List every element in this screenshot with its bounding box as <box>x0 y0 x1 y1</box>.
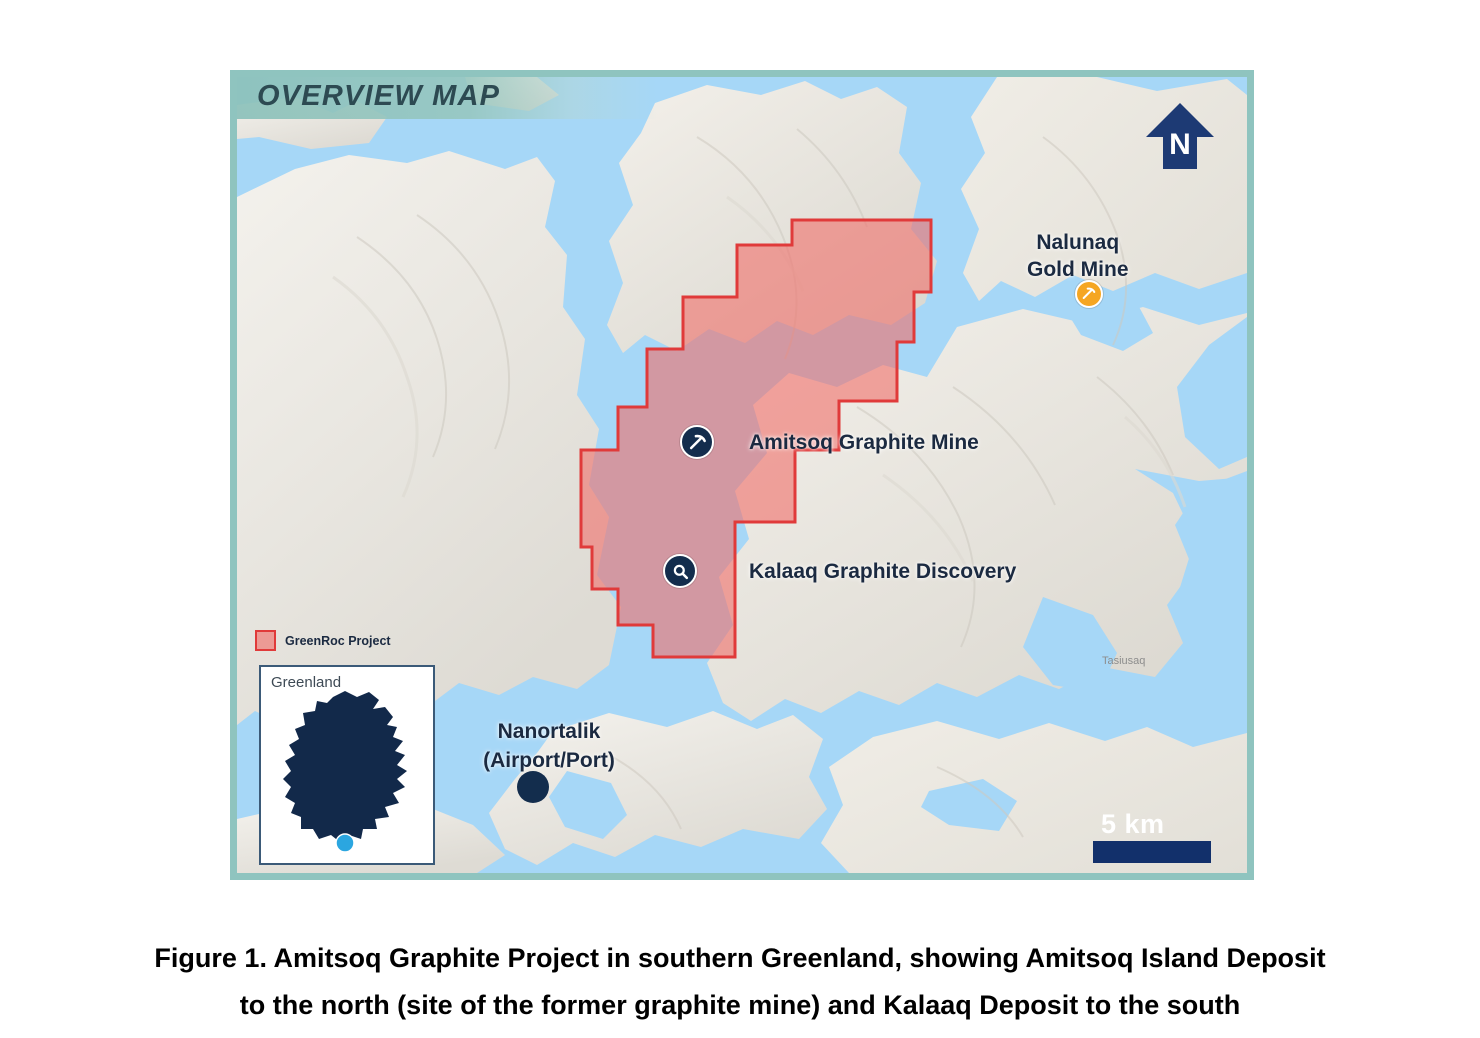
scalebar-bar <box>1093 841 1211 863</box>
map-title: OVERVIEW MAP <box>257 80 500 113</box>
map-legend: GreenRoc Project <box>255 630 391 651</box>
figure-container: OVERVIEW MAP N Nalunaq Gold Mine <box>0 0 1480 1038</box>
scalebar-label: 5 km <box>1093 809 1211 839</box>
locator-dot-icon <box>336 834 354 852</box>
north-arrow-letter: N <box>1169 128 1191 161</box>
inset-title: Greenland <box>271 674 341 691</box>
marker-amitsoq-graphite-mine[interactable] <box>680 425 714 459</box>
legend-swatch-greenroc-project <box>255 630 276 651</box>
greenland-inset-map <box>261 667 433 863</box>
figure-caption: Figure 1. Amitsoq Graphite Project in so… <box>0 935 1480 1029</box>
map-scalebar: 5 km <box>1093 809 1211 863</box>
overview-map: OVERVIEW MAP N Nalunaq Gold Mine <box>230 70 1254 880</box>
north-arrow-icon: N <box>1142 99 1218 175</box>
magnifier-icon <box>671 562 690 581</box>
legend-label-greenroc-project: GreenRoc Project <box>285 634 391 648</box>
marker-nalunaq-gold-mine[interactable] <box>1075 280 1103 308</box>
greenland-locator-inset: Greenland <box>259 665 435 865</box>
marker-kalaaq-graphite-discovery[interactable] <box>663 554 697 588</box>
caption-line-1: Figure 1. Amitsoq Graphite Project in so… <box>0 935 1480 982</box>
caption-line-2: to the north (site of the former graphit… <box>0 982 1480 1029</box>
pickaxe-icon <box>1081 286 1097 302</box>
pickaxe-icon <box>688 433 707 452</box>
marker-nanortalik-town[interactable] <box>517 771 549 803</box>
